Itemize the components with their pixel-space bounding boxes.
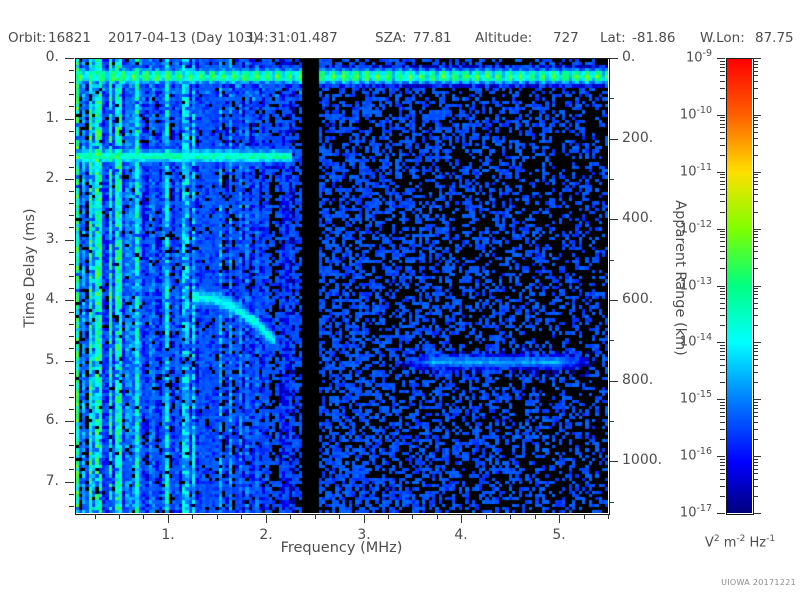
colorbar-tick-major	[753, 58, 761, 59]
unit-m: m	[724, 535, 737, 550]
colorbar-tick-minor	[753, 408, 758, 409]
y-tick-minor	[69, 433, 74, 434]
colorbar-tick-minor	[753, 98, 758, 99]
colorbar-tick-minor	[753, 132, 758, 133]
y-tick-major	[65, 300, 74, 301]
colorbar-tick-minor	[720, 237, 725, 238]
y-tick-minor	[69, 445, 74, 446]
colorbar-tick-minor	[720, 439, 725, 440]
colorbar-tick-minor	[720, 315, 725, 316]
x-tick-major	[364, 514, 365, 523]
colorbar-tick-minor	[753, 294, 758, 295]
colorbar-tick-minor	[753, 496, 758, 497]
colorbar-tick-minor	[753, 117, 758, 118]
y-tick-minor	[69, 155, 74, 156]
y-tick-major	[65, 119, 74, 120]
colorbar-tick-minor	[753, 288, 758, 289]
colorbar-tick-minor	[753, 462, 758, 463]
y-tick-minor	[69, 131, 74, 132]
y-tick-minor	[69, 106, 74, 107]
y-tick-label: 0.	[0, 49, 59, 65]
y2-tick-minor	[609, 421, 614, 422]
x-tick-major	[168, 514, 169, 523]
colorbar-tick-minor	[753, 127, 758, 128]
colorbar-tick-minor	[753, 124, 758, 125]
colorbar-tick-minor	[753, 303, 758, 304]
colorbar-tick-minor	[753, 469, 758, 470]
x-tick-minor	[437, 514, 438, 519]
y-tick-minor	[69, 276, 74, 277]
lat-value: -81.86	[632, 30, 676, 46]
y2-tick-label: 600.	[622, 291, 702, 307]
colorbar-tick-minor	[753, 251, 758, 252]
colorbar-tick-minor	[753, 120, 758, 121]
colorbar-tick-minor	[753, 174, 758, 175]
colorbar-tick-label: 10-9	[646, 48, 712, 65]
colorbar-tick-minor	[720, 174, 725, 175]
colorbar-tick-minor	[720, 241, 725, 242]
colorbar-tick-major	[753, 286, 761, 287]
colorbar-tick-minor	[753, 75, 758, 76]
y-tick-minor	[69, 215, 74, 216]
sza-value: 77.81	[413, 30, 452, 46]
colorbar-tick-minor	[753, 459, 758, 460]
colorbar-tick-minor	[720, 351, 725, 352]
colorbar-tick-minor	[753, 138, 758, 139]
y2-tick-major	[609, 300, 618, 301]
colorbar-tick-minor	[753, 405, 758, 406]
y2-tick-minor	[609, 179, 614, 180]
y2-tick-minor	[609, 260, 614, 261]
colorbar-tick-minor	[753, 315, 758, 316]
colorbar-tick-minor	[720, 234, 725, 235]
y-tick-minor	[69, 336, 74, 337]
x-tick-minor	[584, 514, 585, 519]
orbit-value: 16821	[48, 30, 91, 46]
y-tick-major	[65, 361, 74, 362]
colorbar-tick-minor	[753, 237, 758, 238]
spectrogram-canvas	[75, 58, 608, 513]
colorbar-tick-minor	[720, 75, 725, 76]
colorbar-tick-minor	[753, 231, 758, 232]
y-tick-minor	[69, 191, 74, 192]
colorbar-tick-minor	[753, 81, 758, 82]
colorbar-tick-minor	[720, 124, 725, 125]
colorbar-tick-minor	[753, 234, 758, 235]
y2-tick-minor	[609, 98, 614, 99]
y-tick-minor	[69, 264, 74, 265]
radargram-figure: Orbit: 16821 2017-04-13 (Day 103) 14:31:…	[0, 0, 800, 600]
x-tick-minor	[339, 514, 340, 519]
colorbar-tick-major	[717, 286, 725, 287]
y2-tick-major	[609, 139, 618, 140]
colorbar-tick-minor	[720, 405, 725, 406]
y-tick-minor	[69, 94, 74, 95]
colorbar-tick-minor	[753, 325, 758, 326]
colorbar-tick-minor	[720, 64, 725, 65]
x-tick-minor	[315, 514, 316, 519]
x-tick-minor	[290, 514, 291, 519]
colorbar-tick-minor	[720, 408, 725, 409]
y-tick-minor	[69, 494, 74, 495]
colorbar-tick-minor	[753, 351, 758, 352]
colorbar-tick-minor	[753, 201, 758, 202]
colorbar-tick-minor	[753, 365, 758, 366]
colorbar-tick-major	[717, 229, 725, 230]
colorbar-tick-minor	[720, 348, 725, 349]
colorbar-tick-minor	[720, 294, 725, 295]
y-tick-minor	[69, 457, 74, 458]
colorbar-tick-minor	[720, 308, 725, 309]
colorbar-tick-major	[753, 342, 761, 343]
sza-label: SZA:	[375, 30, 406, 46]
colorbar-tick-minor	[720, 298, 725, 299]
colorbar-tick-minor	[753, 479, 758, 480]
y2-tick-major	[609, 381, 618, 382]
colorbar-tick-minor	[720, 138, 725, 139]
y-tick-label: 1.	[0, 110, 59, 126]
time-value: 14:31:01.487	[247, 30, 338, 46]
altitude-value: 727	[553, 30, 579, 46]
colorbar-tick-minor	[720, 251, 725, 252]
unit-v: V	[705, 535, 714, 550]
colorbar-tick-minor	[720, 155, 725, 156]
colorbar-tick-minor	[720, 496, 725, 497]
y-tick-minor	[69, 70, 74, 71]
y-tick-major	[65, 421, 74, 422]
colorbar-tick-label: 10-15	[646, 389, 712, 406]
colorbar-tick-minor	[753, 422, 758, 423]
colorbar-tick-minor	[753, 291, 758, 292]
colorbar-tick-major	[717, 399, 725, 400]
y2-tick-major	[609, 219, 618, 220]
colorbar-tick-minor	[720, 127, 725, 128]
colorbar-tick-minor	[753, 71, 758, 72]
colorbar-tick-major	[753, 115, 761, 116]
colorbar-tick-minor	[753, 486, 758, 487]
colorbar-tick-label: 10-10	[646, 105, 712, 122]
colorbar-tick-minor	[753, 67, 758, 68]
date-value: 2017-04-13 (Day 103)	[108, 30, 258, 46]
y-tick-label: 6.	[0, 412, 59, 428]
unit-hz: Hz	[749, 535, 766, 550]
x-tick-minor	[192, 514, 193, 519]
y-tick-major	[65, 240, 74, 241]
colorbar	[726, 58, 752, 513]
x-tick-minor	[535, 514, 536, 519]
spectrogram-panel	[75, 58, 608, 513]
unit-m-exp: -2	[736, 534, 745, 544]
colorbar-tick-minor	[720, 325, 725, 326]
y-tick-label: 7.	[0, 473, 59, 489]
colorbar-tick-major	[717, 456, 725, 457]
colorbar-tick-minor	[720, 345, 725, 346]
colorbar-tick-minor	[720, 88, 725, 89]
colorbar-tick-minor	[753, 212, 758, 213]
colorbar-tick-minor	[720, 184, 725, 185]
y-tick-major	[65, 179, 74, 180]
colorbar-tick-minor	[720, 372, 725, 373]
colorbar-canvas	[726, 58, 752, 513]
unit-hz-exp: -1	[766, 534, 775, 544]
colorbar-tick-minor	[720, 429, 725, 430]
orbit-label: Orbit:	[8, 30, 46, 46]
colorbar-tick-minor	[720, 402, 725, 403]
x-tick-minor	[486, 514, 487, 519]
colorbar-tick-minor	[753, 429, 758, 430]
altitude-label: Altitude:	[475, 30, 532, 46]
colorbar-tick-minor	[720, 465, 725, 466]
x-tick-minor	[143, 514, 144, 519]
y-tick-minor	[69, 469, 74, 470]
colorbar-tick-minor	[753, 473, 758, 474]
colorbar-tick-minor	[753, 412, 758, 413]
colorbar-tick-minor	[753, 439, 758, 440]
colorbar-tick-minor	[753, 189, 758, 190]
colorbar-tick-minor	[720, 212, 725, 213]
colorbar-tick-minor	[753, 348, 758, 349]
colorbar-tick-minor	[720, 81, 725, 82]
colorbar-tick-minor	[753, 416, 758, 417]
unit-v-exp: 2	[714, 534, 720, 544]
colorbar-tick-minor	[720, 117, 725, 118]
x-tick-minor	[241, 514, 242, 519]
y2-tick-major	[609, 58, 618, 59]
colorbar-tick-major	[753, 229, 761, 230]
y-tick-major	[65, 58, 74, 59]
y-tick-minor	[69, 167, 74, 168]
colorbar-tick-minor	[720, 479, 725, 480]
colorbar-tick-minor	[720, 194, 725, 195]
x-axis-title: Frequency (MHz)	[0, 540, 683, 556]
colorbar-tick-minor	[720, 291, 725, 292]
colorbar-tick-minor	[720, 412, 725, 413]
colorbar-tick-major	[753, 172, 761, 173]
colorbar-tick-minor	[720, 365, 725, 366]
colorbar-tick-minor	[753, 402, 758, 403]
colorbar-tick-major	[717, 115, 725, 116]
x-tick-major	[266, 514, 267, 523]
x-tick-minor	[608, 514, 609, 519]
colorbar-tick-minor	[753, 145, 758, 146]
colorbar-tick-minor	[753, 64, 758, 65]
colorbar-tick-major	[717, 342, 725, 343]
colorbar-tick-minor	[720, 246, 725, 247]
colorbar-tick-minor	[720, 359, 725, 360]
colorbar-tick-major	[753, 399, 761, 400]
y-tick-minor	[69, 143, 74, 144]
colorbar-tick-minor	[720, 486, 725, 487]
colorbar-tick-minor	[753, 298, 758, 299]
colorbar-tick-major	[717, 513, 725, 514]
y-tick-minor	[69, 252, 74, 253]
colorbar-tick-label: 10-13	[646, 276, 712, 293]
colorbar-tick-minor	[720, 416, 725, 417]
colorbar-tick-minor	[720, 382, 725, 383]
colorbar-tick-minor	[720, 355, 725, 356]
colorbar-tick-minor	[720, 120, 725, 121]
y-tick-major	[65, 482, 74, 483]
y2-tick-minor	[609, 502, 614, 503]
y-tick-minor	[69, 397, 74, 398]
colorbar-tick-major	[717, 172, 725, 173]
y2-tick-label: 200.	[622, 130, 702, 146]
colorbar-tick-minor	[753, 308, 758, 309]
x-tick-minor	[217, 514, 218, 519]
colorbar-unit-label: V2 m-2 Hz-1	[680, 534, 800, 550]
colorbar-tick-minor	[720, 231, 725, 232]
colorbar-tick-minor	[753, 181, 758, 182]
y-tick-minor	[69, 82, 74, 83]
colorbar-tick-minor	[753, 61, 758, 62]
colorbar-tick-major	[753, 456, 761, 457]
y-tick-minor	[69, 506, 74, 507]
colorbar-tick-minor	[753, 155, 758, 156]
colorbar-tick-minor	[720, 459, 725, 460]
x-tick-minor	[119, 514, 120, 519]
header-metadata: Orbit: 16821 2017-04-13 (Day 103) 14:31:…	[0, 30, 800, 50]
colorbar-tick-minor	[753, 465, 758, 466]
colorbar-tick-minor	[720, 201, 725, 202]
colorbar-tick-label: 10-12	[646, 219, 712, 236]
colorbar-tick-minor	[720, 422, 725, 423]
y-tick-minor	[69, 409, 74, 410]
y-tick-minor	[69, 288, 74, 289]
colorbar-tick-minor	[753, 88, 758, 89]
colorbar-tick-major	[717, 58, 725, 59]
colorbar-tick-minor	[720, 71, 725, 72]
y2-tick-label: 800.	[622, 372, 702, 388]
colorbar-tick-minor	[720, 189, 725, 190]
y2-tick-major	[609, 461, 618, 462]
colorbar-tick-minor	[753, 382, 758, 383]
colorbar-tick-minor	[753, 355, 758, 356]
y-tick-minor	[69, 227, 74, 228]
y-tick-minor	[69, 373, 74, 374]
colorbar-tick-label: 10-16	[646, 446, 712, 463]
y-tick-minor	[69, 324, 74, 325]
colorbar-tick-minor	[720, 67, 725, 68]
colorbar-tick-minor	[720, 473, 725, 474]
colorbar-tick-minor	[720, 98, 725, 99]
x-tick-minor	[388, 514, 389, 519]
colorbar-tick-minor	[720, 145, 725, 146]
colorbar-tick-minor	[720, 61, 725, 62]
colorbar-tick-label: 10-11	[646, 162, 712, 179]
wlon-value: 87.75	[755, 30, 794, 46]
x-tick-major	[559, 514, 560, 523]
x-tick-minor	[510, 514, 511, 519]
colorbar-tick-minor	[720, 268, 725, 269]
y-tick-minor	[69, 312, 74, 313]
y-tick-minor	[69, 348, 74, 349]
colorbar-tick-label: 10-14	[646, 332, 712, 349]
colorbar-tick-minor	[720, 469, 725, 470]
x-tick-major	[461, 514, 462, 523]
colorbar-tick-minor	[720, 181, 725, 182]
colorbar-tick-minor	[720, 132, 725, 133]
colorbar-tick-minor	[720, 177, 725, 178]
y-tick-minor	[69, 203, 74, 204]
colorbar-tick-minor	[753, 184, 758, 185]
colorbar-tick-minor	[753, 372, 758, 373]
colorbar-tick-minor	[720, 288, 725, 289]
colorbar-tick-minor	[753, 268, 758, 269]
colorbar-tick-minor	[753, 246, 758, 247]
colorbar-tick-minor	[753, 359, 758, 360]
colorbar-tick-minor	[753, 345, 758, 346]
colorbar-tick-major	[753, 513, 761, 514]
colorbar-tick-minor	[720, 303, 725, 304]
colorbar-tick-minor	[753, 258, 758, 259]
wlon-label: W.Lon:	[700, 30, 745, 46]
colorbar-tick-minor	[720, 258, 725, 259]
colorbar-tick-minor	[720, 462, 725, 463]
y-axis-title-left: Time Delay (ms)	[22, 178, 38, 358]
colorbar-tick-minor	[753, 194, 758, 195]
x-tick-minor	[95, 514, 96, 519]
y-tick-minor	[69, 385, 74, 386]
colorbar-tick-minor	[753, 241, 758, 242]
colorbar-tick-minor	[753, 177, 758, 178]
y2-tick-minor	[609, 340, 614, 341]
colorbar-tick-label: 10-17	[646, 503, 712, 520]
x-tick-minor	[412, 514, 413, 519]
footer-credit: UIOWA 20171221	[700, 578, 796, 587]
lat-label: Lat:	[600, 30, 626, 46]
